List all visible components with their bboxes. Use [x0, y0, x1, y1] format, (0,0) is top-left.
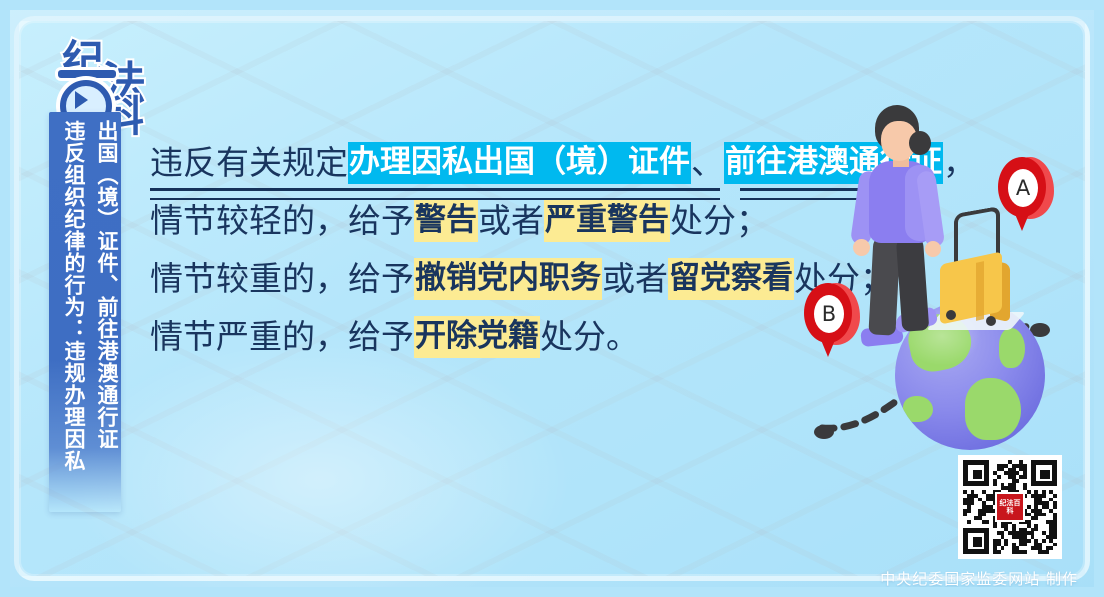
- traveler-figure: [845, 105, 975, 360]
- line2-seg-2: 或者: [478, 204, 544, 240]
- line3-seg-2: 或者: [602, 262, 668, 298]
- line1-seg-2: 、: [691, 146, 724, 182]
- line3-seg-0: 情节较重的，给予: [150, 262, 414, 298]
- line3-seg-1-highlight: 撤销党内职务: [414, 258, 602, 300]
- line2-seg-4: 处分；: [670, 204, 769, 240]
- body-text: 违反有关规定办理因私出国（境）证件、前往港澳通行证， 情节较轻的，给予警告或者严…: [150, 146, 890, 378]
- vertical-title-banner: 出国（境）证件、前往港澳通行证 违反组织纪律的行为：违规办理因私: [49, 112, 121, 512]
- banner-column-right: 出国（境）证件、前往港澳通行证: [85, 120, 118, 508]
- line3-seg-3-highlight: 留党察看: [668, 258, 794, 300]
- line4-seg-2: 处分。: [540, 320, 639, 356]
- logo-bar: [58, 70, 116, 78]
- line4-seg-1-highlight: 开除党籍: [414, 316, 540, 358]
- body-line-2: 情节较轻的，给予警告或者严重警告处分；: [150, 204, 890, 262]
- footer-credit: 中央纪委国家监委网站 制作: [880, 568, 1078, 589]
- body-line-3: 情节较重的，给予撤销党内职务或者留党察看处分；: [150, 262, 890, 320]
- line4-seg-0: 情节严重的，给予: [150, 320, 414, 356]
- body-line-1: 违反有关规定办理因私出国（境）证件、前往港澳通行证，: [150, 146, 890, 204]
- qr-center-logo: 纪法百科: [995, 492, 1025, 522]
- line1-seg-1-highlight: 办理因私出国（境）证件: [348, 142, 691, 184]
- line2-seg-1-highlight: 警告: [414, 200, 478, 242]
- map-pin-a: A: [998, 157, 1054, 233]
- map-pin-b: B: [804, 283, 860, 359]
- map-pin-a-label: A: [1008, 169, 1038, 207]
- map-pin-b-label: B: [814, 295, 844, 333]
- qr-code[interactable]: 纪法百科: [958, 455, 1062, 559]
- line2-seg-0: 情节较轻的，给予: [150, 204, 414, 240]
- line1-seg-0: 违反有关规定: [150, 146, 348, 182]
- poster-canvas: 纪 法 科 出国（境）证件、前往港澳通行证 违反组织纪律的行为：违规办理因私 违…: [0, 0, 1104, 597]
- line1-underline-part-1: [150, 188, 720, 200]
- qr-seal-text: 纪法百科: [997, 494, 1023, 520]
- banner-column-left: 违反组织纪律的行为：违规办理因私: [52, 120, 85, 508]
- route-dot-start: [814, 425, 834, 439]
- body-line-4: 情节严重的，给予开除党籍处分。: [150, 320, 890, 378]
- traveler-illustration: A B: [790, 95, 1090, 455]
- line2-seg-3-highlight: 严重警告: [544, 200, 670, 242]
